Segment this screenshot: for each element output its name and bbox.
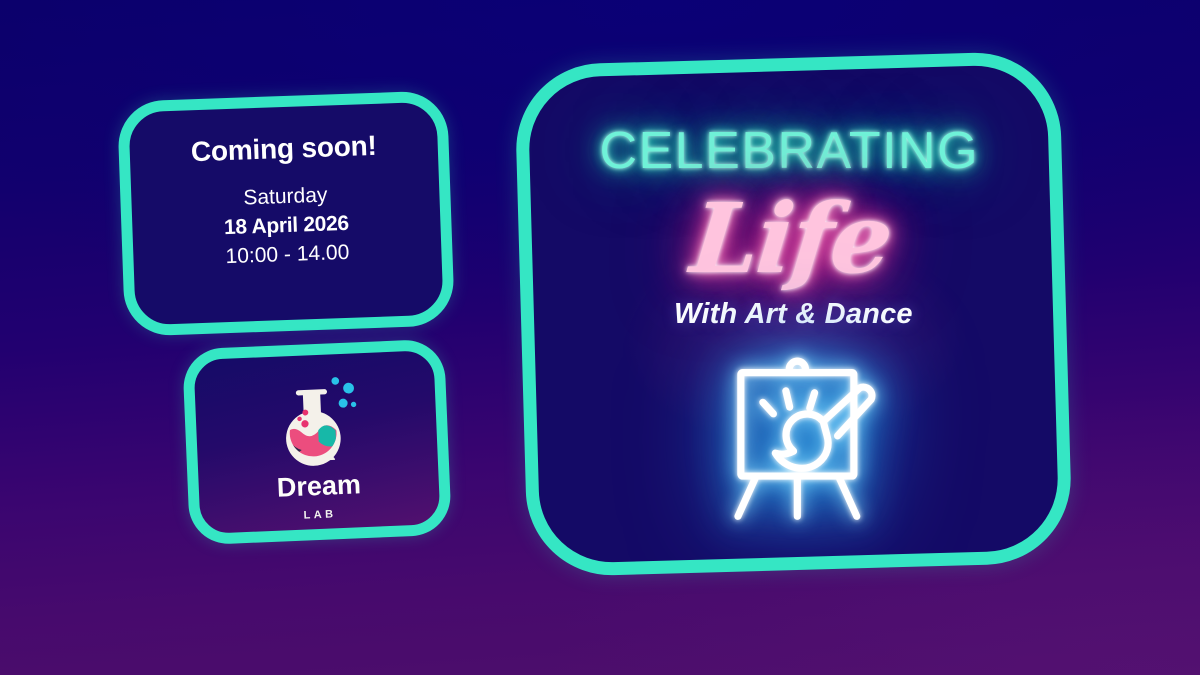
flask-icon [262,365,370,473]
celebrating-life-card[interactable]: CELEBRATING Life With Art & Dance [514,50,1073,577]
celebrating-life-content: CELEBRATING Life With Art & Dance [527,64,1059,564]
dream-lab-brand-sub: LAB [303,508,336,521]
event-date: 18 April 2026 [224,210,350,243]
coming-soon-card[interactable]: Coming soon! Saturday 18 April 2026 10:0… [117,90,455,336]
coming-soon-title: Coming soon! [190,130,377,168]
coming-soon-content: Coming soon! Saturday 18 April 2026 10:0… [128,102,443,326]
event-time: 10:00 - 14.00 [225,239,350,272]
easel-paintbrush-icon [699,343,895,525]
headline-life-script: Life [687,189,896,290]
dream-lab-brand: Dream [276,471,361,501]
dream-lab-content: Dream LAB [193,350,440,534]
subtitle-with-art-and-dance: With Art & Dance [674,298,913,331]
headline-celebrating: CELEBRATING [599,121,979,181]
event-weekday: Saturday [243,182,328,214]
poster-canvas: Coming soon! Saturday 18 April 2026 10:0… [0,0,1200,675]
dream-lab-card[interactable]: Dream LAB [182,339,452,546]
